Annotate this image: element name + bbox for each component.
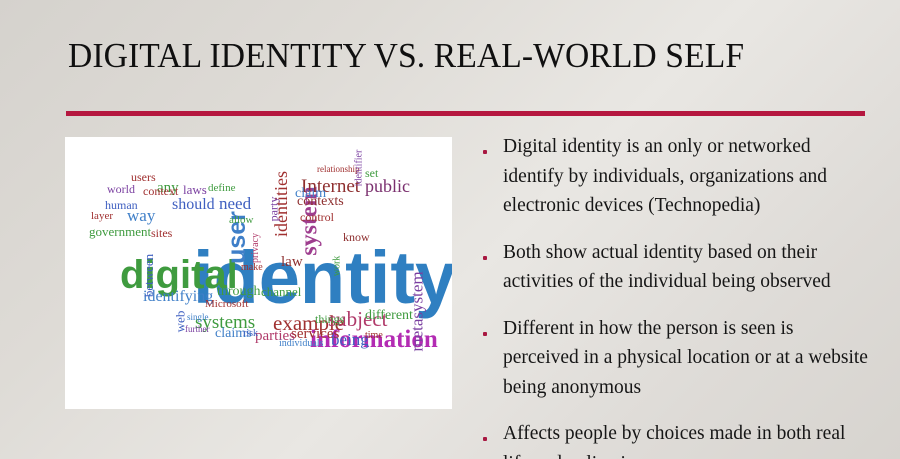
word-cloud-image: identitydigitalinformationusersystemInte…: [65, 137, 452, 409]
cloud-word: Microsoft: [205, 299, 248, 310]
list-item-text: Both show actual identity based on their…: [503, 238, 873, 297]
bullet-list: Digital identity is an only or networked…: [483, 132, 873, 459]
cloud-word: need: [219, 195, 251, 212]
cloud-word: make: [241, 263, 263, 273]
cloud-word: allow: [229, 215, 253, 226]
cloud-word: should: [172, 197, 215, 213]
cloud-word: government: [89, 225, 151, 238]
cloud-word: world: [107, 183, 135, 195]
cloud-word: things: [315, 313, 344, 325]
cloud-word: control: [300, 211, 334, 223]
cloud-word: through: [217, 285, 261, 299]
cloud-word: party: [267, 197, 279, 222]
list-item: Both show actual identity based on their…: [483, 238, 873, 297]
cloud-word: context: [143, 185, 178, 197]
cloud-word: set: [365, 167, 378, 179]
cloud-word: identifier: [354, 150, 364, 187]
cloud-word: work: [332, 256, 342, 277]
cloud-word: know: [343, 231, 370, 243]
cloud-word: contexts: [297, 195, 344, 209]
list-item-text: Different in how the person is seen is p…: [503, 314, 873, 403]
square-bullet-icon: [483, 419, 503, 446]
word-cloud-canvas: identitydigitalinformationusersystemInte…: [65, 137, 452, 409]
cloud-word: different: [365, 309, 413, 323]
cloud-word: individuals: [279, 339, 323, 349]
square-bullet-icon: [483, 314, 503, 341]
slide-canvas: DIGITAL IDENTITY VS. REAL-WORLD SELF ide…: [0, 0, 900, 459]
cloud-word: laws: [183, 183, 207, 196]
cloud-word: privacy: [251, 233, 261, 263]
page-title: DIGITAL IDENTITY VS. REAL-WORLD SELF: [68, 25, 836, 87]
cloud-word: single: [187, 313, 209, 322]
cloud-word: risk: [243, 329, 258, 339]
cloud-word: between: [142, 254, 155, 297]
cloud-word: further: [185, 325, 210, 334]
list-item-text: Affects people by choices made in both r…: [503, 419, 873, 459]
square-bullet-icon: [483, 238, 503, 265]
list-item: Different in how the person is seen is p…: [483, 314, 873, 403]
cloud-word: users: [131, 171, 156, 183]
square-bullet-icon: [483, 132, 503, 159]
title-block: DIGITAL IDENTITY VS. REAL-WORLD SELF: [68, 25, 868, 87]
list-item: Affects people by choices made in both r…: [483, 419, 873, 459]
cloud-word: define: [208, 183, 235, 194]
cloud-word: layer: [91, 211, 113, 222]
cloud-word: time: [365, 331, 383, 341]
cloud-word: sites: [151, 227, 172, 239]
list-item-text: Digital identity is an only or networked…: [503, 132, 873, 221]
title-divider-rule: [66, 111, 865, 116]
list-item: Digital identity is an only or networked…: [483, 132, 873, 221]
cloud-word: channel: [261, 285, 301, 298]
cloud-word: law: [281, 255, 303, 270]
